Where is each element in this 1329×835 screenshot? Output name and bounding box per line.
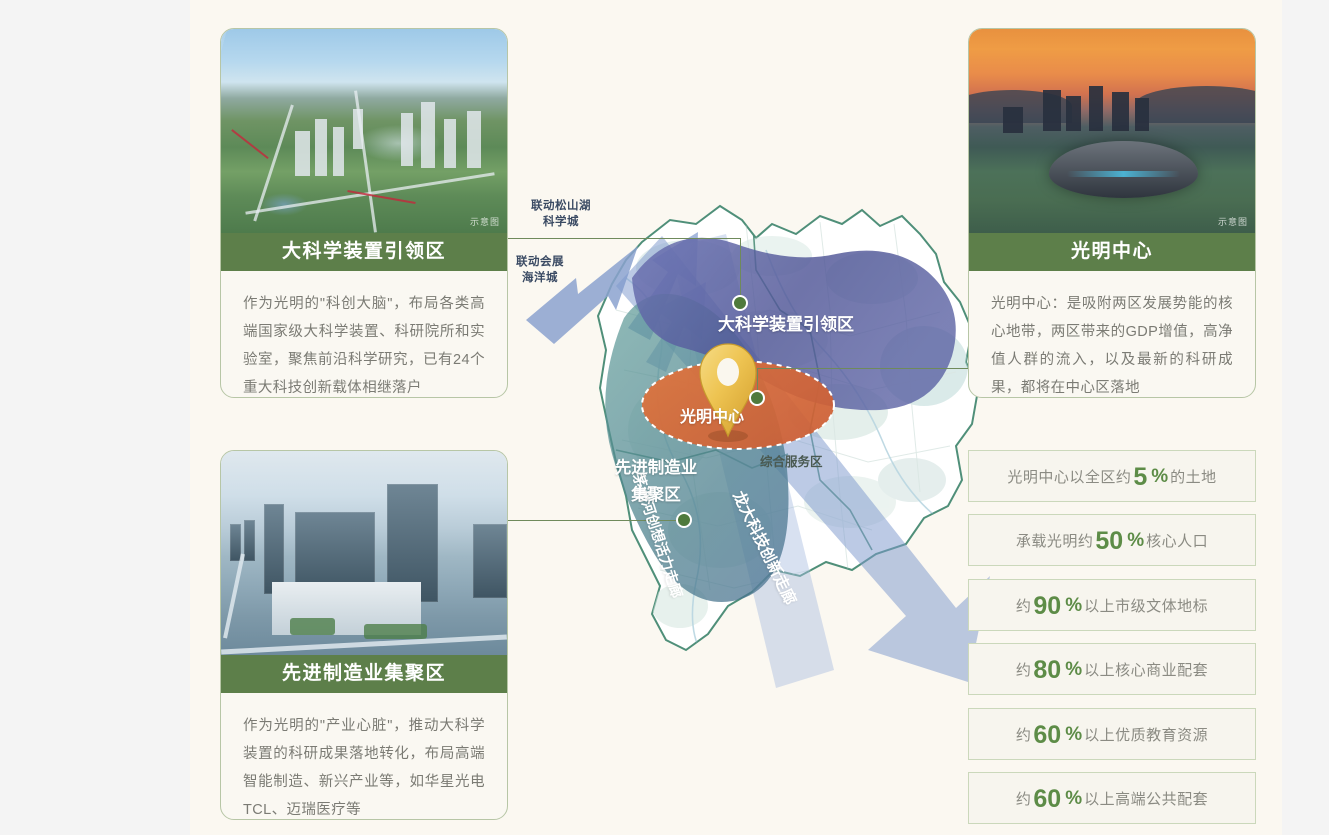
stat-suffix: 以上核心商业配套 (1084, 659, 1208, 680)
stat-prefix: 约 (1016, 595, 1032, 616)
map-dot-science (732, 295, 748, 311)
card-manufacturing-photo (221, 451, 507, 655)
photo-watermark: 示意图 (470, 215, 500, 228)
card-manufacturing-zone[interactable]: 先进制造业集聚区 作为光明的"产业心脏"，推动大科学装置的科研成果落地转化，布局… (220, 450, 508, 820)
stat-item-public: 约60%以上高端公共配套 (968, 772, 1256, 824)
stat-prefix: 约 (1016, 788, 1032, 809)
stat-suffix: 的土地 (1170, 466, 1217, 487)
office-towers-image (221, 451, 507, 655)
stat-unit: % (1149, 466, 1170, 488)
arrow-label-songshanhu: 联动松山湖 科学城 (518, 198, 604, 230)
card-manufacturing-body: 作为光明的"产业心脏"，推动大科学装置的科研成果落地转化，布局高端智能制造、新兴… (221, 693, 507, 820)
stat-value: 5 (1131, 463, 1149, 492)
stat-suffix: 以上市级文体地标 (1084, 595, 1208, 616)
stat-suffix: 以上高端公共配套 (1084, 788, 1208, 809)
photo-watermark: 示意图 (1218, 215, 1248, 228)
aerial-city-image (221, 29, 507, 233)
card-manufacturing-title: 先进制造业集聚区 (221, 655, 507, 693)
card-science-body: 作为光明的"科创大脑"，布局各类高端国家级大科学装置、科研院所和实验室，聚焦前沿… (221, 271, 507, 398)
stat-unit: % (1063, 595, 1084, 617)
stat-item-population: 承载光明约50%核心人口 (968, 514, 1256, 566)
stat-prefix: 承载光明约 (1016, 530, 1094, 551)
card-science-zone[interactable]: 示意图 大科学装置引领区 作为光明的"科创大脑"，布局各类高端国家级大科学装置、… (220, 28, 508, 398)
card-center-zone[interactable]: 示意图 光明中心 光明中心：是吸附两区发展势能的核心地带，两区带来的GDP增值，… (968, 28, 1256, 398)
right-gutter (1282, 0, 1329, 835)
stat-prefix: 约 (1016, 659, 1032, 680)
card-science-photo: 示意图 (221, 29, 507, 233)
stat-unit: % (1063, 724, 1084, 746)
sunset-arena-image (969, 29, 1255, 233)
card-center-body: 光明中心：是吸附两区发展势能的核心地带，两区带来的GDP增值，高净值人群的流入，… (969, 271, 1255, 398)
stat-value: 50 (1093, 527, 1125, 556)
stat-unit: % (1063, 788, 1084, 810)
stat-prefix: 光明中心以全区约 (1007, 466, 1131, 487)
stat-item-landmarks: 约90%以上市级文体地标 (968, 579, 1256, 631)
stat-value: 60 (1031, 721, 1063, 750)
card-center-photo: 示意图 (969, 29, 1255, 233)
stat-value: 80 (1031, 656, 1063, 685)
stat-unit: % (1125, 530, 1146, 552)
card-center-title: 光明中心 (969, 233, 1255, 271)
map-dot-center (749, 390, 765, 406)
left-gutter (0, 0, 190, 835)
stat-item-land: 光明中心以全区约5%的土地 (968, 450, 1256, 502)
stat-value: 60 (1031, 785, 1063, 814)
stat-suffix: 以上优质教育资源 (1084, 724, 1208, 745)
card-science-title: 大科学装置引领区 (221, 233, 507, 271)
stat-unit: % (1063, 659, 1084, 681)
map-dot-manufacturing (676, 512, 692, 528)
arena-shape (1049, 141, 1198, 198)
stat-prefix: 约 (1016, 724, 1032, 745)
stat-item-education: 约60%以上优质教育资源 (968, 708, 1256, 760)
stat-suffix: 核心人口 (1146, 530, 1208, 551)
stat-item-commercial: 约80%以上核心商业配套 (968, 643, 1256, 695)
stat-value: 90 (1031, 592, 1063, 621)
arrow-label-haiyangcheng: 联动会展 海洋城 (505, 254, 575, 286)
guangming-district-map (520, 10, 990, 710)
infographic-root: 联动松山湖 科学城 联动会展 海洋城 大科学装置引领区 光明中心 先进制造业 集… (0, 0, 1329, 835)
